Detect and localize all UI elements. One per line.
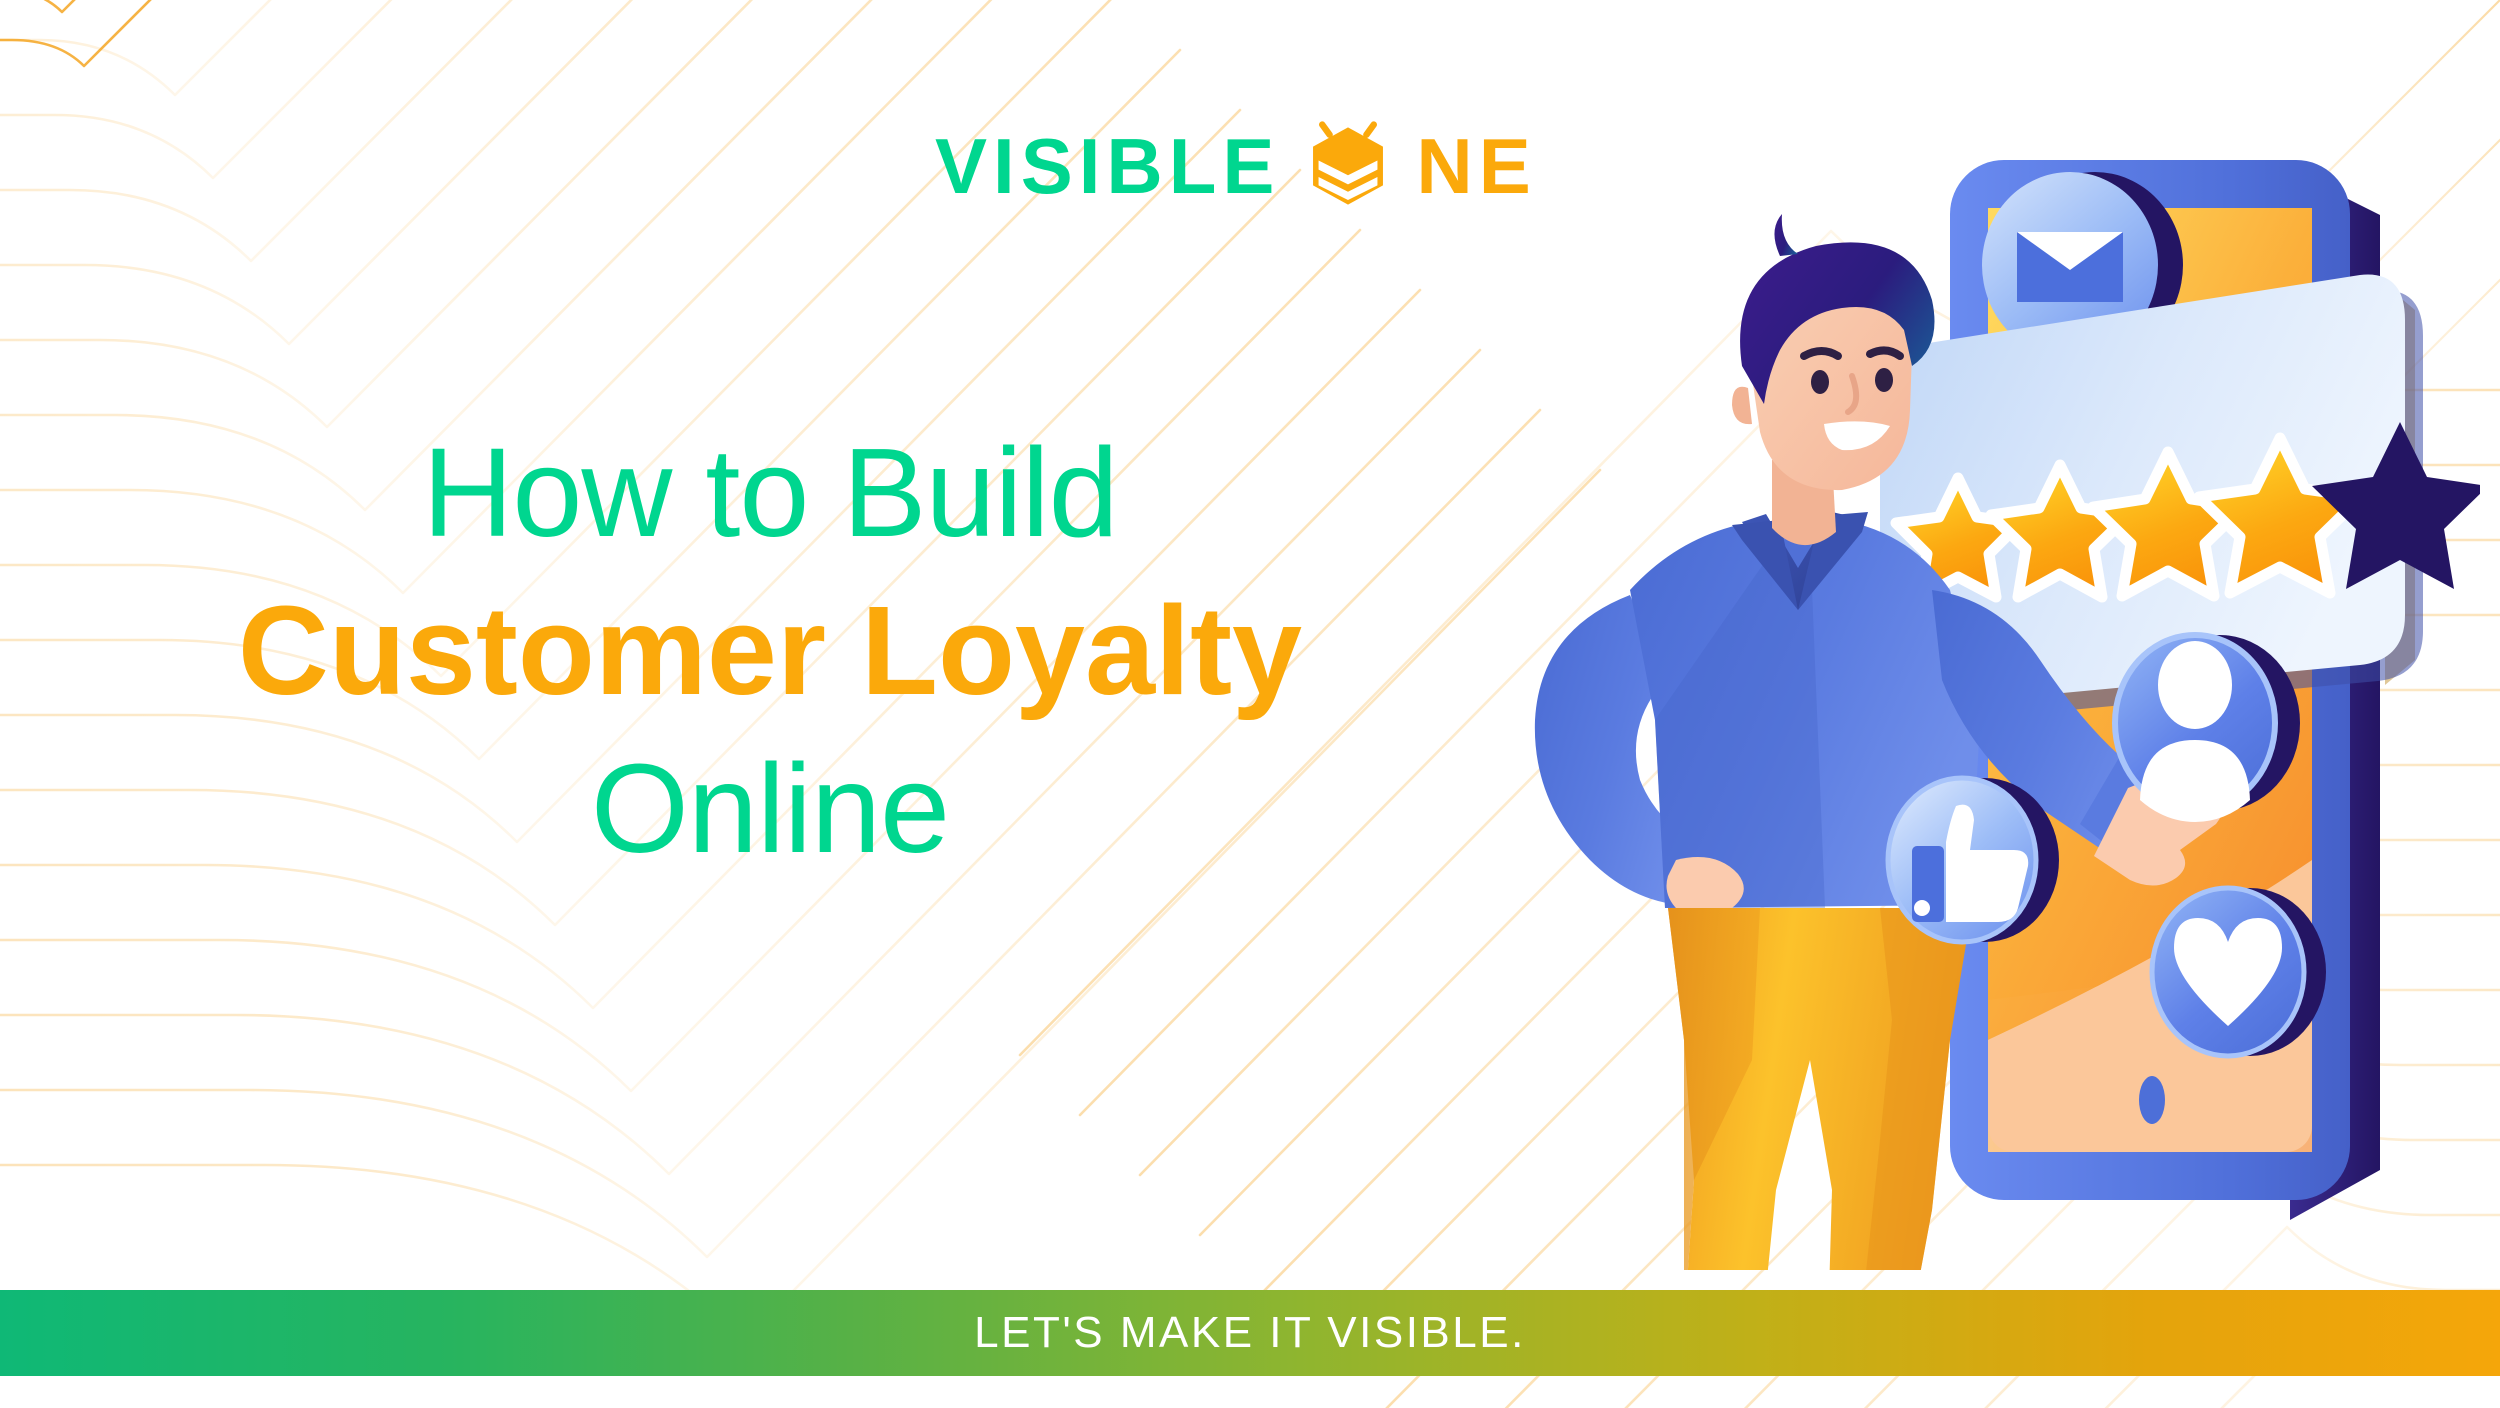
thumbs-up-icon	[1888, 778, 2059, 942]
tagline-text: LET'S MAKE IT VISIBLE.	[974, 1308, 1526, 1358]
headline-line-1: How to Build	[100, 420, 1440, 566]
home-indicator	[2139, 1076, 2165, 1124]
bee-hexagon-icon	[1302, 120, 1394, 212]
poster-canvas: VISIBLE NE How to Build Customer Loyalty…	[0, 0, 2500, 1408]
page-title: How to Build Customer Loyalty Online	[100, 420, 1440, 882]
hero-illustration	[1480, 160, 2480, 1270]
headline-line-2: Customer Loyalty	[100, 578, 1440, 724]
tagline-banner: LET'S MAKE IT VISIBLE.	[0, 1290, 2500, 1376]
headline-line-3: Online	[100, 736, 1440, 882]
brand-logo[interactable]: VISIBLE NE	[935, 120, 1537, 212]
logo-text-visible: VISIBLE	[935, 127, 1280, 205]
heart-icon	[2152, 888, 2326, 1056]
